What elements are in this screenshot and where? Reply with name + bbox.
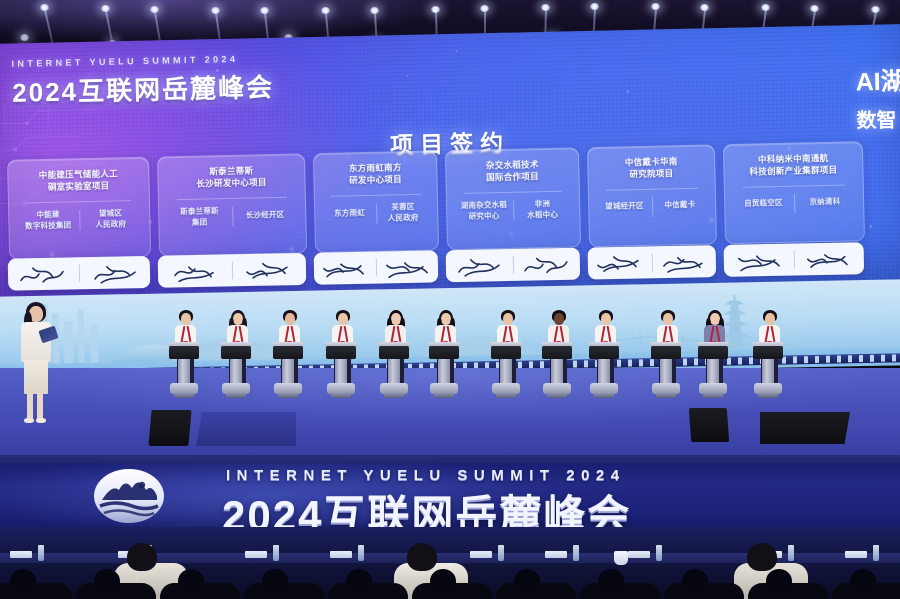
card-divider xyxy=(331,193,420,196)
signing-podium xyxy=(423,342,467,404)
project-card-title-line2: 长沙研发中心项目 xyxy=(196,176,267,190)
stage-monitor-speaker xyxy=(148,410,191,446)
audience-head xyxy=(127,543,157,571)
yuelu-mountain-emblem-icon xyxy=(92,466,166,526)
signing-podium xyxy=(583,342,627,404)
audience-name-card xyxy=(628,551,650,558)
ceiling-spotlight xyxy=(871,6,880,13)
project-card-title: 中能建压气储能人工硐室实验室项目 xyxy=(39,167,119,193)
audience-head-front xyxy=(766,569,792,593)
project-card-title: 杂交水稻技术国际合作项目 xyxy=(486,158,539,184)
project-card-title: 斯泰兰蒂斯长沙研发中心项目 xyxy=(196,164,267,190)
card-parties: 湖南杂交水稻研究中心非洲水稻中心 xyxy=(455,198,571,222)
project-card-row: 中能建压气储能人工硐室实验室项目中能建数字科技集团望城区人民政府斯泰兰蒂斯长沙研… xyxy=(7,140,900,260)
water-bottle xyxy=(38,545,44,561)
project-card-title-line2: 国际合作项目 xyxy=(486,171,539,184)
ceiling-spotlight xyxy=(370,7,379,14)
ceiling-spotlight xyxy=(431,6,440,13)
water-bottle xyxy=(656,545,662,561)
project-card-title-line2: 研究院项目 xyxy=(625,168,678,181)
party-left: 望城经开区 xyxy=(597,201,652,213)
signature-box xyxy=(446,248,581,283)
tea-cup xyxy=(614,551,628,565)
audience-head-front xyxy=(514,569,540,593)
ceiling-spotlight xyxy=(761,4,770,11)
card-parties: 中能建数字科技集团望城区人民政府 xyxy=(17,208,141,232)
wall-headline-cn: 2024互联网岳麓峰会 xyxy=(12,67,275,110)
ceiling-spotlight xyxy=(700,4,709,11)
signature-left xyxy=(158,254,232,287)
party-right: 长沙经开区 xyxy=(233,210,298,222)
signing-podium xyxy=(692,342,736,404)
wall-headline-left: INTERNET YUELU SUMMIT 2024 2024互联网岳麓峰会 xyxy=(11,53,274,110)
signature-left xyxy=(724,244,794,277)
card-divider xyxy=(27,200,131,203)
ceiling-spotlight xyxy=(810,5,819,12)
wall-sparkle xyxy=(626,90,629,93)
signing-podium xyxy=(163,342,207,404)
water-bottle xyxy=(788,545,794,561)
signing-podium xyxy=(536,342,580,404)
ceiling-spotlight xyxy=(480,5,489,12)
project-card-title-line1: 东方雨虹南方 xyxy=(349,161,402,174)
project-card-title-line2: 研发中心项目 xyxy=(349,174,402,187)
party-right: 芙蓉区人民政府 xyxy=(377,201,430,224)
project-card-title-line1: 杂交水稻技术 xyxy=(486,158,539,171)
party-left: 中能建数字科技集团 xyxy=(17,209,79,232)
signature-left xyxy=(588,246,652,279)
audience-name-card xyxy=(470,551,492,558)
audience-name-card xyxy=(245,551,267,558)
project-card[interactable]: 中能建压气储能人工硐室实验室项目中能建数字科技集团望城区人民政府 xyxy=(7,157,151,260)
signature-right xyxy=(652,245,716,278)
audience-head xyxy=(407,543,437,571)
signature-box xyxy=(8,256,151,291)
audience-head-front xyxy=(598,569,624,593)
party-left: 自贸临空区 xyxy=(733,198,794,210)
project-card-title: 东方雨虹南方研发中心项目 xyxy=(349,161,402,187)
stage-riser xyxy=(196,412,296,446)
water-bottle xyxy=(873,545,879,561)
ceiling-spotlight xyxy=(150,6,159,13)
project-card-title-line2: 科技创新产业集群项目 xyxy=(749,164,837,178)
audience-area xyxy=(0,527,900,599)
audience-head-front xyxy=(10,569,36,593)
audience-head xyxy=(747,543,777,571)
card-divider xyxy=(464,190,561,193)
audience-name-card xyxy=(845,551,867,558)
wall-sparkle xyxy=(455,50,457,52)
signing-podium xyxy=(645,342,689,404)
signature-right xyxy=(513,248,580,281)
water-bottle xyxy=(273,545,279,561)
ceiling-spotlight-lower xyxy=(20,34,29,41)
audience-head-front xyxy=(430,569,456,593)
ceiling-spotlight xyxy=(211,7,220,14)
signature-right xyxy=(79,256,150,289)
card-parties: 望城经开区中信戴卡 xyxy=(597,195,707,217)
party-right: 京纳清科 xyxy=(795,197,856,209)
card-divider xyxy=(177,196,286,199)
ceiling-spotlight xyxy=(590,3,599,10)
water-bottle xyxy=(358,545,364,561)
ceiling-spotlight xyxy=(651,3,660,10)
signing-podium xyxy=(747,342,791,404)
signature-box xyxy=(158,253,307,288)
conference-stage-photo: INTERNET YUELU SUMMIT 2024 2024互联网岳麓峰会 A… xyxy=(0,0,900,599)
ceiling-spotlight xyxy=(321,7,330,14)
party-left: 斯泰兰蒂斯集团 xyxy=(167,206,232,229)
party-right: 非洲水稻中心 xyxy=(514,198,572,221)
signature-left xyxy=(314,252,376,285)
signature-right xyxy=(794,242,864,275)
card-parties: 斯泰兰蒂斯集团长沙经开区 xyxy=(167,204,297,229)
party-left: 湖南杂交水稻研究中心 xyxy=(455,199,513,222)
party-left: 东方雨虹 xyxy=(323,208,376,220)
audience-head-front xyxy=(94,569,120,593)
project-card-title: 中科纳米中南通航科技创新产业集群项目 xyxy=(749,152,838,179)
water-bottle xyxy=(573,545,579,561)
signature-left xyxy=(446,249,513,282)
project-card-title-line2: 硐室实验室项目 xyxy=(39,180,118,194)
project-card[interactable]: 杂交水稻技术国际合作项目湖南杂交水稻研究中心非洲水稻中心 xyxy=(445,147,581,250)
wall-headline-right-line1: AI湖 xyxy=(855,61,900,98)
stage-riser-right xyxy=(760,412,850,444)
project-card[interactable]: 东方雨虹南方研发中心项目东方雨虹芙蓉区人民政府 xyxy=(313,150,439,253)
signing-podium xyxy=(215,342,259,404)
signing-podium xyxy=(267,342,311,404)
wall-sparkle xyxy=(406,75,408,77)
party-right: 中信戴卡 xyxy=(653,200,708,212)
signature-right xyxy=(376,250,438,283)
project-card[interactable]: 中科纳米中南通航科技创新产业集群项目自贸临空区京纳清科 xyxy=(723,141,865,244)
signing-podium xyxy=(373,342,417,404)
card-divider xyxy=(743,184,845,187)
signing-podium xyxy=(485,342,529,404)
ceiling-spotlight xyxy=(541,4,550,11)
project-card[interactable]: 中信戴卡华南研究院项目望城经开区中信戴卡 xyxy=(587,144,717,247)
water-bottle xyxy=(498,545,504,561)
ceiling-spotlight xyxy=(260,7,269,14)
stage-monitor-speaker-right xyxy=(689,408,729,442)
card-divider xyxy=(606,187,698,190)
party-right: 望城区人民政府 xyxy=(80,208,142,231)
signature-right xyxy=(232,253,306,286)
audience-name-card xyxy=(330,551,352,558)
project-card[interactable]: 斯泰兰蒂斯长沙研发中心项目斯泰兰蒂斯集团长沙经开区 xyxy=(157,153,307,256)
project-card-title-line1: 中信戴卡华南 xyxy=(625,155,678,168)
ceiling-spotlight xyxy=(40,4,49,11)
signing-podium xyxy=(320,342,364,404)
audience-head-front xyxy=(262,569,288,593)
signature-box xyxy=(724,242,865,277)
audience-head-front xyxy=(682,569,708,593)
signature-box xyxy=(588,245,717,279)
signature-left xyxy=(8,257,79,290)
signature-box xyxy=(314,250,439,284)
audience-head-front xyxy=(346,569,372,593)
ceiling-spotlight xyxy=(101,5,110,12)
project-card-title: 中信戴卡华南研究院项目 xyxy=(625,155,678,181)
audience-name-card xyxy=(545,551,567,558)
audience-head-front xyxy=(850,569,876,593)
female-host xyxy=(8,300,64,428)
card-parties: 自贸临空区京纳清科 xyxy=(733,192,855,215)
audience-name-card xyxy=(10,551,32,558)
card-parties: 东方雨虹芙蓉区人民政府 xyxy=(323,201,429,225)
audience-head-front xyxy=(178,569,204,593)
